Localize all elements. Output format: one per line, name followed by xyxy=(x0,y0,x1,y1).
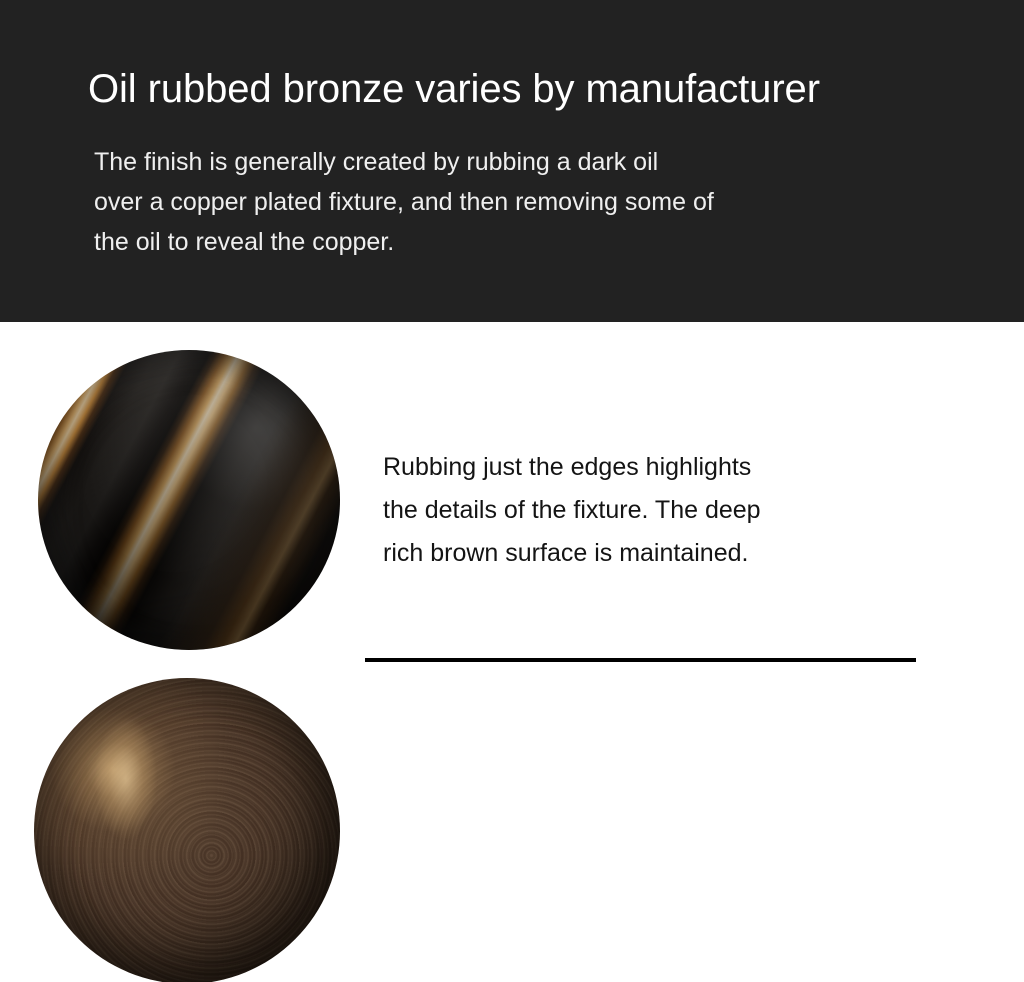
caption-rubbed-edges-line-1: Rubbing just the edges highlights xyxy=(383,446,943,489)
content-area: Rubbing just the edges highlights the de… xyxy=(0,322,1024,982)
caption-rubbed-edges-line-3: rich brown surface is maintained. xyxy=(383,532,943,575)
header-band: Oil rubbed bronze varies by manufacturer… xyxy=(0,0,1024,322)
brushed-brown-bronze-sphere-icon xyxy=(34,678,340,982)
header-description: The finish is generally created by rubbi… xyxy=(94,142,934,262)
header-description-line-1: The finish is generally created by rubbi… xyxy=(94,142,934,182)
header-description-line-3: the oil to reveal the copper. xyxy=(94,222,934,262)
page-title: Oil rubbed bronze varies by manufacturer xyxy=(88,66,988,112)
swatch-row-brushed-surface: Brushing the entire surface creates a di… xyxy=(0,660,1024,982)
caption-rubbed-edges: Rubbing just the edges highlights the de… xyxy=(383,446,943,575)
infographic-root: Oil rubbed bronze varies by manufacturer… xyxy=(0,0,1024,982)
dark-glossy-bronze-sphere-icon xyxy=(38,350,340,650)
caption-rubbed-edges-line-2: the details of the fixture. The deep xyxy=(383,489,943,532)
swatch-row-rubbed-edges: Rubbing just the edges highlights the de… xyxy=(0,322,1024,660)
header-description-line-2: over a copper plated fixture, and then r… xyxy=(94,182,934,222)
